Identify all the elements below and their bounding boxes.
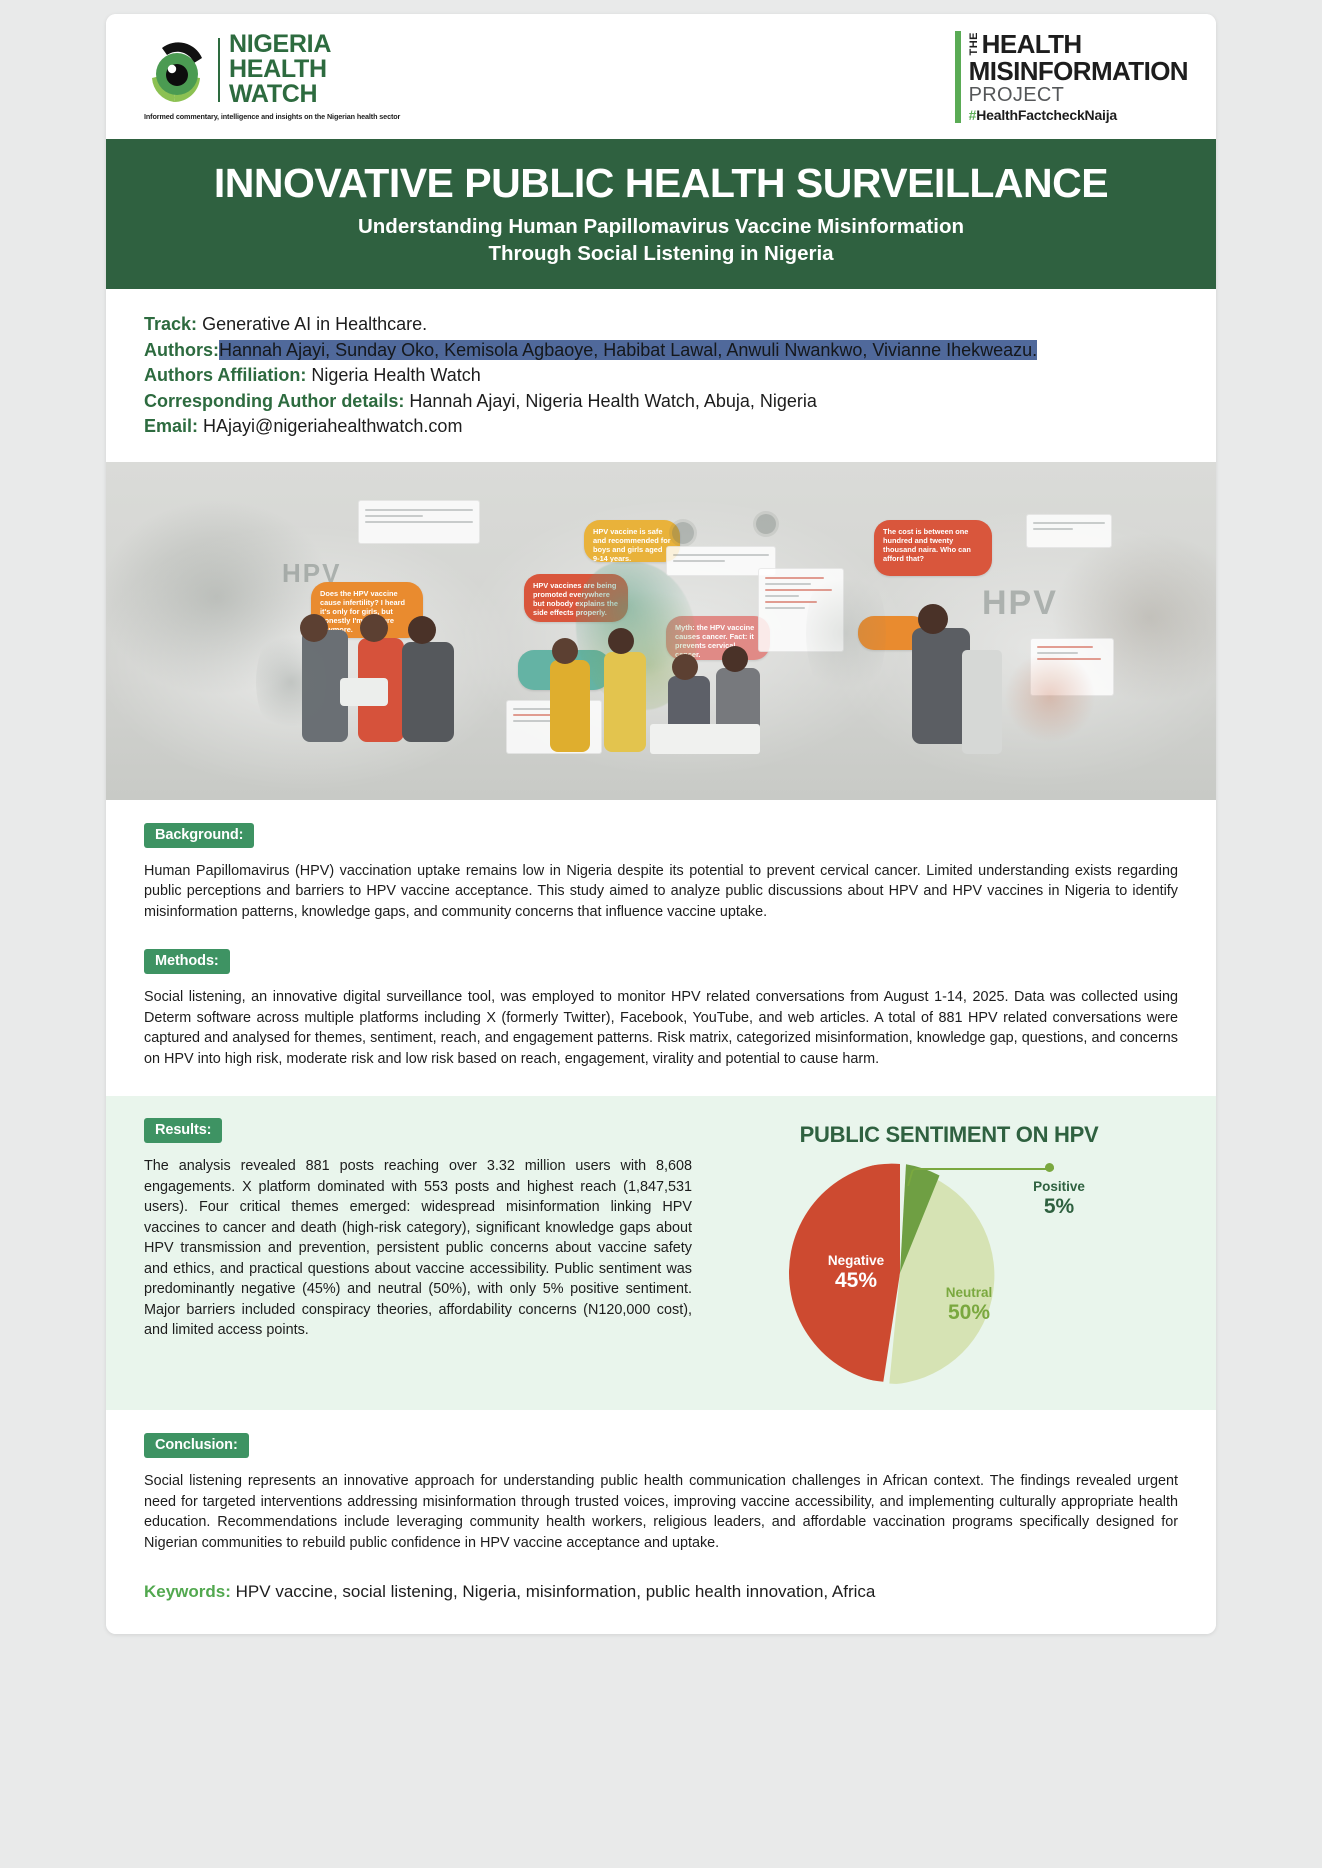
- track-label: Track:: [144, 314, 197, 334]
- nhw-tagline: Informed commentary, intelligence and in…: [144, 112, 400, 121]
- hmp-the-label: THE: [969, 32, 980, 56]
- section-results: Results: The analysis revealed 881 posts…: [106, 1096, 1216, 1410]
- hero-panel-a: [358, 500, 480, 544]
- spacer-before-conclusion: [106, 1410, 1216, 1433]
- affiliation-label: Authors Affiliation:: [144, 365, 306, 385]
- keywords-value: HPV vaccine, social listening, Nigeria, …: [236, 1582, 876, 1601]
- methods-body: Social listening, an innovative digital …: [144, 987, 1178, 1069]
- hero-head-3: [408, 616, 436, 644]
- hmp-project-label: PROJECT: [969, 84, 1188, 106]
- results-text-column: Results: The analysis revealed 881 posts…: [144, 1118, 692, 1341]
- positive-leader-dot: [1045, 1163, 1054, 1172]
- poster-sheet: NIGERIA HEALTH WATCH Informed commentary…: [106, 14, 1216, 1634]
- pie-label-neutral-name: Neutral: [929, 1286, 1009, 1300]
- page-bottom-margin: [106, 1634, 1216, 1650]
- hero-speck-cloud-3: [806, 558, 886, 708]
- spacer-before-keywords: [106, 1553, 1216, 1580]
- hero-head-5: [608, 628, 634, 654]
- sentiment-chart: PUBLIC SENTIMENT ON HPV Negative 45%: [720, 1118, 1178, 1384]
- background-label: Background:: [144, 823, 254, 848]
- logo-bar: NIGERIA HEALTH WATCH Informed commentary…: [106, 14, 1216, 139]
- hero-hpv-watermark: HPV: [982, 584, 1058, 623]
- results-label: Results:: [144, 1118, 222, 1143]
- spacer-before-results: [106, 1069, 1216, 1096]
- pie-label-neutral-value: 50%: [929, 1302, 1009, 1324]
- health-misinformation-project-logo: THE HEALTH MISINFORMATION PROJECT #Healt…: [955, 31, 1188, 123]
- meta-row-corresponding-author: Corresponding Author details: Hannah Aja…: [144, 389, 1178, 415]
- hmp-accent-bar: [955, 31, 961, 123]
- hmp-health-label: HEALTH: [982, 31, 1082, 57]
- keywords-row: Keywords: HPV vaccine, social listening,…: [106, 1580, 1216, 1604]
- pie-label-negative-value: 45%: [813, 1270, 899, 1292]
- hero-head-8: [918, 604, 948, 634]
- authors-value[interactable]: Hannah Ajayi, Sunday Oko, Kemisola Agbao…: [219, 340, 1037, 360]
- spacer-before-methods: [106, 922, 1216, 949]
- hero-bench-1: [650, 724, 760, 754]
- pie-chart-area: Negative 45% Neutral 50% Positive 5%: [789, 1162, 1109, 1384]
- nhw-wordmark: NIGERIA HEALTH WATCH: [229, 32, 331, 107]
- meta-row-email: Email: HAjayi@nigeriahealthwatch.com: [144, 414, 1178, 440]
- pie-label-neutral: Neutral 50%: [929, 1286, 1009, 1325]
- keywords-label: Keywords:: [144, 1582, 231, 1601]
- conclusion-body: Social listening represents an innovativ…: [144, 1471, 1178, 1553]
- poster-title: INNOVATIVE PUBLIC HEALTH SURVEILLANCE: [146, 159, 1176, 207]
- section-conclusion: Conclusion: Social listening represents …: [106, 1433, 1216, 1553]
- poster-canvas: NIGERIA HEALTH WATCH Informed commentary…: [0, 0, 1322, 1868]
- hero-speck-cloud-1: [256, 622, 326, 742]
- pie-label-positive-value: 5%: [1017, 1196, 1101, 1218]
- hero-laptop-1: [340, 678, 388, 706]
- logo-divider: [218, 38, 220, 102]
- pie-label-negative: Negative 45%: [813, 1254, 899, 1293]
- meta-row-affiliation: Authors Affiliation: Nigeria Health Watc…: [144, 363, 1178, 389]
- hero-illustration: HPV Does the HPV vaccine cause infertili…: [106, 462, 1216, 800]
- hero-speck-cloud-2: [1002, 642, 1098, 752]
- nhw-word-line-2: HEALTH: [229, 57, 331, 82]
- hero-figure-3: [402, 642, 454, 742]
- eye-logo-icon: [144, 34, 214, 106]
- corresponding-author-label: Corresponding Author details:: [144, 391, 404, 411]
- hero-figure-5: [604, 652, 646, 752]
- hero-bubble-6: The cost is between one hundred and twen…: [874, 520, 992, 576]
- nigeria-health-watch-logo: NIGERIA HEALTH WATCH Informed commentary…: [144, 32, 400, 121]
- conclusion-label: Conclusion:: [144, 1433, 249, 1458]
- hero-virus-icon-1: [672, 522, 694, 544]
- hero-head-4: [552, 638, 578, 664]
- hero-virus-icon-2: [756, 514, 776, 534]
- hero-figure-4: [550, 660, 590, 752]
- meta-row-track: Track: Generative AI in Healthcare.: [144, 312, 1178, 338]
- section-methods: Methods: Social listening, an innovative…: [106, 949, 1216, 1069]
- corresponding-author-value: Hannah Ajayi, Nigeria Health Watch, Abuj…: [409, 391, 817, 411]
- affiliation-value: Nigeria Health Watch: [311, 365, 480, 385]
- poster-subtitle-line-1: Understanding Human Papillomavirus Vacci…: [146, 213, 1176, 240]
- hero-head-2: [360, 614, 388, 642]
- poster-subtitle-line-2: Through Social Listening in Nigeria: [146, 240, 1176, 267]
- track-value: Generative AI in Healthcare.: [202, 314, 427, 334]
- hero-panel-c: [1026, 514, 1112, 548]
- spacer-before-background: [106, 800, 1216, 823]
- pie-label-positive-name: Positive: [1017, 1180, 1101, 1194]
- pie-label-positive: Positive 5%: [1017, 1180, 1101, 1219]
- sheet-footer: [106, 1604, 1216, 1634]
- metadata-block: Track: Generative AI in Healthcare. Auth…: [106, 289, 1216, 462]
- hero-chair-1: [962, 650, 1002, 754]
- authors-label: Authors:: [144, 340, 219, 360]
- pie-label-negative-name: Negative: [813, 1254, 899, 1268]
- email-value: HAjayi@nigeriahealthwatch.com: [203, 416, 462, 436]
- methods-label: Methods:: [144, 949, 230, 974]
- hmp-misinformation-label: MISINFORMATION: [969, 58, 1188, 84]
- poster-subtitle: Understanding Human Papillomavirus Vacci…: [146, 213, 1176, 267]
- hero-head-7: [722, 646, 748, 672]
- background-body: Human Papillomavirus (HPV) vaccination u…: [144, 861, 1178, 923]
- email-label: Email:: [144, 416, 198, 436]
- hero-head-6: [672, 654, 698, 680]
- results-body: The analysis revealed 881 posts reaching…: [144, 1156, 692, 1341]
- meta-row-authors: Authors:Hannah Ajayi, Sunday Oko, Kemiso…: [144, 338, 1178, 364]
- nhw-word-line-3: WATCH: [229, 82, 331, 107]
- nhw-word-line-1: NIGERIA: [229, 32, 331, 57]
- hmp-hashtag: #HealthFactcheckNaija: [969, 107, 1188, 123]
- hashtag-text: HealthFactcheckNaija: [976, 107, 1117, 123]
- section-background: Background: Human Papillomavirus (HPV) v…: [106, 823, 1216, 923]
- title-banner: INNOVATIVE PUBLIC HEALTH SURVEILLANCE Un…: [106, 139, 1216, 289]
- chart-title: PUBLIC SENTIMENT ON HPV: [720, 1122, 1178, 1148]
